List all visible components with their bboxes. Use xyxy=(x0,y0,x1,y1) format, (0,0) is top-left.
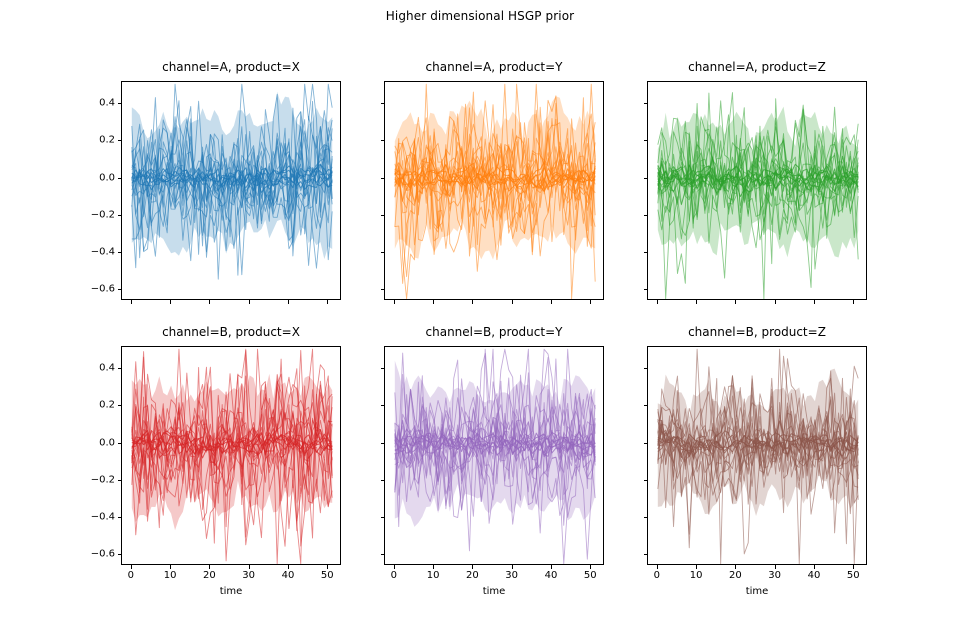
subplot-title: channel=B, product=Z xyxy=(647,325,867,339)
x-tick xyxy=(590,300,591,304)
plot-lines xyxy=(122,347,341,565)
x-tick-label: 0 xyxy=(654,570,660,581)
figure-suptitle: Higher dimensional HSGP prior xyxy=(0,9,960,23)
y-tick xyxy=(381,289,385,290)
y-tick xyxy=(381,405,385,406)
y-tick xyxy=(118,443,122,444)
y-tick xyxy=(644,140,648,141)
x-tick xyxy=(735,565,736,569)
y-tick xyxy=(644,252,648,253)
y-tick-label: 0.2 xyxy=(99,400,115,411)
plot-lines xyxy=(648,347,867,565)
x-tick xyxy=(512,565,513,569)
subplot-title: channel=A, product=X xyxy=(121,60,341,74)
axes-frame xyxy=(647,346,867,565)
y-tick-label: −0.6 xyxy=(91,548,115,559)
axes-frame xyxy=(384,81,604,300)
figure-canvas: Higher dimensional HSGP prior channel=A,… xyxy=(0,0,960,640)
y-tick xyxy=(118,480,122,481)
x-axis-label: time xyxy=(121,586,341,597)
x-tick-label: 10 xyxy=(164,570,177,581)
x-tick xyxy=(394,565,395,569)
x-tick xyxy=(853,565,854,569)
y-tick xyxy=(644,480,648,481)
y-tick xyxy=(644,215,648,216)
plot-lines xyxy=(385,347,604,565)
x-tick xyxy=(131,565,132,569)
subplot-channel-B-product-Z: channel=B, product=Z01020304050time xyxy=(647,346,867,565)
subplot-title: channel=B, product=X xyxy=(121,325,341,339)
x-tick xyxy=(472,300,473,304)
x-tick-label: 30 xyxy=(505,570,518,581)
x-tick-label: 20 xyxy=(466,570,479,581)
x-tick xyxy=(249,565,250,569)
y-tick xyxy=(381,178,385,179)
x-tick xyxy=(512,300,513,304)
x-tick-label: 50 xyxy=(584,570,597,581)
y-tick-label: −0.2 xyxy=(91,209,115,220)
y-tick xyxy=(644,517,648,518)
x-tick-label: 0 xyxy=(391,570,397,581)
subplot-channel-A-product-Z: channel=A, product=Z xyxy=(647,81,867,300)
y-tick xyxy=(381,554,385,555)
y-tick xyxy=(118,289,122,290)
subplot-title: channel=A, product=Y xyxy=(384,60,604,74)
x-tick xyxy=(394,300,395,304)
x-tick-label: 30 xyxy=(242,570,255,581)
x-tick-label: 10 xyxy=(427,570,440,581)
x-tick-label: 0 xyxy=(128,570,134,581)
x-tick xyxy=(853,300,854,304)
y-tick xyxy=(118,368,122,369)
y-tick xyxy=(644,178,648,179)
y-tick xyxy=(118,517,122,518)
y-tick xyxy=(644,368,648,369)
y-tick xyxy=(644,405,648,406)
y-tick xyxy=(381,252,385,253)
axes-frame xyxy=(384,346,604,565)
x-tick xyxy=(657,300,658,304)
x-tick xyxy=(551,300,552,304)
plot-lines xyxy=(122,82,341,300)
y-tick xyxy=(381,517,385,518)
x-tick xyxy=(590,565,591,569)
y-tick xyxy=(118,252,122,253)
y-tick xyxy=(381,215,385,216)
x-axis-label: time xyxy=(647,586,867,597)
x-tick-label: 20 xyxy=(203,570,216,581)
x-tick xyxy=(170,300,171,304)
axes-frame xyxy=(121,346,341,565)
y-tick-label: 0.0 xyxy=(99,172,115,183)
subplot-channel-B-product-X: channel=B, product=X0.40.20.0−0.2−0.4−0.… xyxy=(121,346,341,565)
y-tick-label: 0.4 xyxy=(99,98,115,109)
x-axis-label: time xyxy=(384,586,604,597)
y-tick xyxy=(381,103,385,104)
subplot-channel-A-product-X: channel=A, product=X0.40.20.0−0.2−0.4−0.… xyxy=(121,81,341,300)
y-tick xyxy=(644,554,648,555)
subplot-title: channel=A, product=Z xyxy=(647,60,867,74)
y-tick xyxy=(118,103,122,104)
x-tick-label: 30 xyxy=(768,570,781,581)
x-tick xyxy=(657,565,658,569)
x-tick xyxy=(327,565,328,569)
x-tick xyxy=(209,565,210,569)
x-tick xyxy=(433,565,434,569)
y-tick xyxy=(644,103,648,104)
subplot-channel-B-product-Y: channel=B, product=Y01020304050time xyxy=(384,346,604,565)
x-tick xyxy=(433,300,434,304)
x-tick xyxy=(170,565,171,569)
y-tick xyxy=(381,480,385,481)
axes-frame xyxy=(121,81,341,300)
y-tick xyxy=(381,368,385,369)
y-tick xyxy=(381,443,385,444)
x-tick xyxy=(735,300,736,304)
x-tick-label: 10 xyxy=(690,570,703,581)
x-tick-label: 40 xyxy=(282,570,295,581)
y-tick xyxy=(118,140,122,141)
x-tick-label: 50 xyxy=(847,570,860,581)
x-tick xyxy=(696,565,697,569)
x-tick xyxy=(551,565,552,569)
x-tick-label: 20 xyxy=(729,570,742,581)
subplot-channel-A-product-Y: channel=A, product=Y xyxy=(384,81,604,300)
subplot-title: channel=B, product=Y xyxy=(384,325,604,339)
x-tick-label: 40 xyxy=(545,570,558,581)
plot-lines xyxy=(648,82,867,300)
y-tick xyxy=(118,554,122,555)
x-tick xyxy=(814,565,815,569)
x-tick xyxy=(131,300,132,304)
x-tick xyxy=(696,300,697,304)
x-tick-label: 40 xyxy=(808,570,821,581)
y-tick-label: −0.4 xyxy=(91,511,115,522)
x-tick xyxy=(814,300,815,304)
x-tick xyxy=(288,300,289,304)
x-tick xyxy=(288,565,289,569)
x-tick xyxy=(775,300,776,304)
y-tick xyxy=(381,140,385,141)
x-tick-label: 50 xyxy=(321,570,334,581)
y-tick xyxy=(118,215,122,216)
y-tick-label: 0.4 xyxy=(99,363,115,374)
x-tick xyxy=(327,300,328,304)
x-tick xyxy=(472,565,473,569)
x-tick xyxy=(775,565,776,569)
y-tick-label: −0.2 xyxy=(91,474,115,485)
y-tick xyxy=(644,443,648,444)
y-tick-label: −0.6 xyxy=(91,283,115,294)
axes-frame xyxy=(647,81,867,300)
y-tick xyxy=(118,405,122,406)
plot-lines xyxy=(385,82,604,300)
y-tick-label: 0.2 xyxy=(99,135,115,146)
y-tick xyxy=(644,289,648,290)
y-tick-label: −0.4 xyxy=(91,246,115,257)
y-tick-label: 0.0 xyxy=(99,437,115,448)
x-tick xyxy=(209,300,210,304)
y-tick xyxy=(118,178,122,179)
x-tick xyxy=(249,300,250,304)
